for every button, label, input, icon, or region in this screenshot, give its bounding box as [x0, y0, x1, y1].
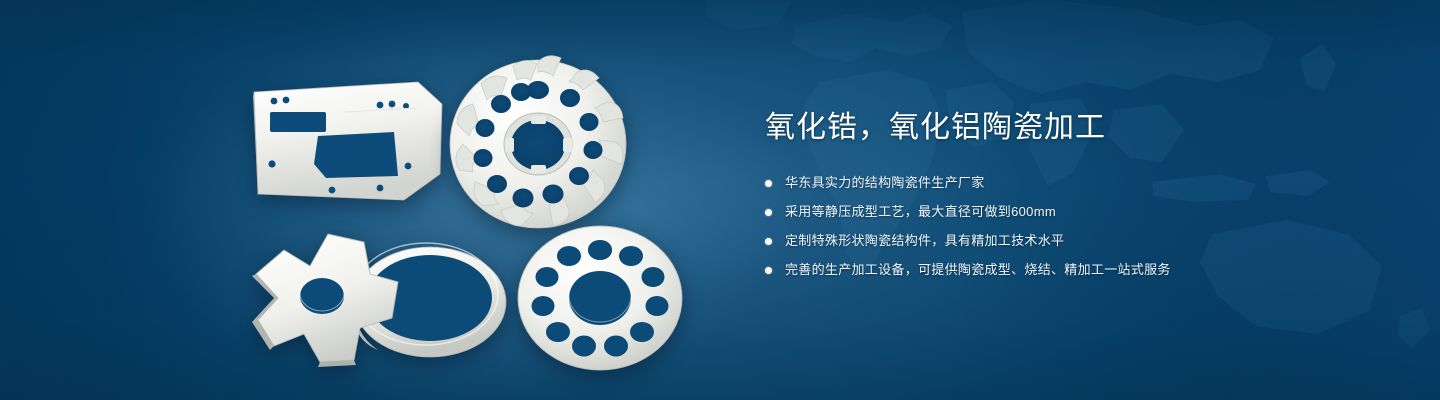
bladed-impeller-disc-image: [443, 46, 633, 236]
feature-bullet-text: 完善的生产加工设备，可提供陶瓷成型、烧结、精加工一站式服务: [785, 259, 1171, 281]
feature-bullet-item: 定制特殊形状陶瓷结构件，具有精加工技术水平: [765, 230, 1385, 252]
feature-bullet-text: 华东具实力的结构陶瓷件生产厂家: [785, 172, 985, 194]
feature-bullet-item: 华东具实力的结构陶瓷件生产厂家: [765, 172, 1385, 194]
cross-shaped-plate-and-ring-image: [248, 222, 514, 370]
banner-headline: 氧化锆，氧化铝陶瓷加工: [765, 108, 1385, 148]
feature-bullet-item: 完善的生产加工设备，可提供陶瓷成型、烧结、精加工一站式服务: [765, 259, 1385, 281]
bullet-dot-icon: [765, 180, 772, 187]
feature-bullet-item: 采用等静压成型工艺，最大直径可做到600mm: [765, 201, 1385, 223]
feature-bullet-text: 采用等静压成型工艺，最大直径可做到600mm: [785, 201, 1056, 223]
machined-ceramic-plate-image: [248, 78, 448, 204]
bullet-dot-icon: [765, 209, 772, 216]
product-image-cluster: [0, 0, 720, 400]
feature-bullet-list: 华东具实力的结构陶瓷件生产厂家 采用等静压成型工艺，最大直径可做到600mm 定…: [765, 172, 1385, 281]
bullet-dot-icon: [765, 238, 772, 245]
promo-banner: 氧化锆，氧化铝陶瓷加工 华东具实力的结构陶瓷件生产厂家 采用等静压成型工艺，最大…: [0, 0, 1440, 400]
feature-bullet-text: 定制特殊形状陶瓷结构件，具有精加工技术水平: [785, 230, 1064, 252]
bullet-dot-icon: [765, 267, 772, 274]
banner-copy: 氧化锆，氧化铝陶瓷加工 华东具实力的结构陶瓷件生产厂家 采用等静压成型工艺，最大…: [765, 108, 1385, 288]
perforated-ring-disc-image: [512, 222, 688, 374]
